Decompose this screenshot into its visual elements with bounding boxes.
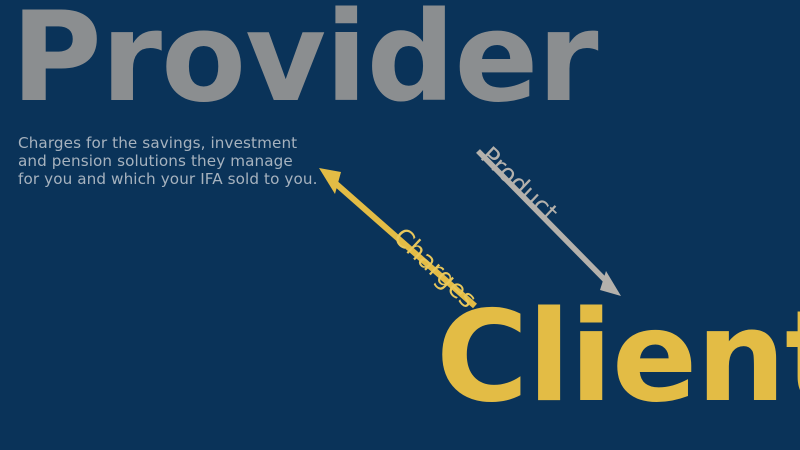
charges-arrow-head: [319, 168, 341, 194]
client-title: Client: [436, 294, 800, 420]
diagram-canvas: Provider Charges for the savings, invest…: [0, 0, 800, 450]
